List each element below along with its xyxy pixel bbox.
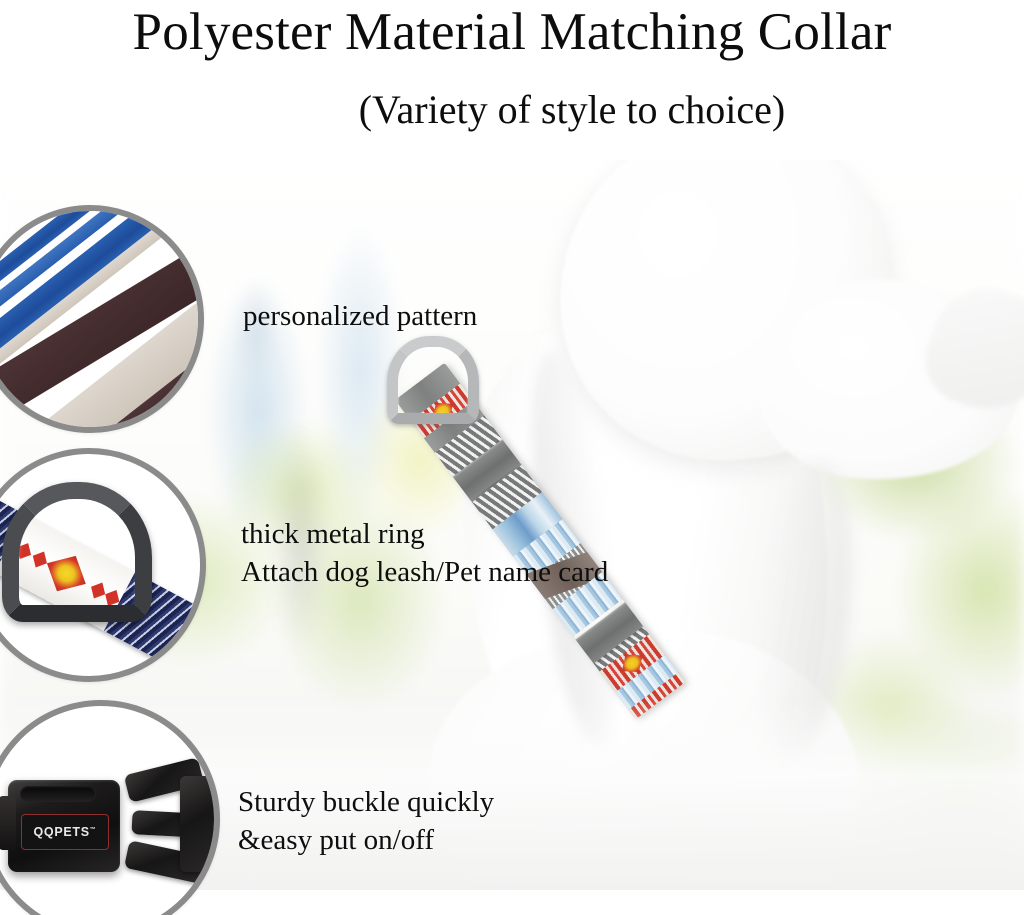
d-ring-icon: [2, 482, 152, 622]
callout-label-dring: thick metal ring Attach dog leash/Pet na…: [241, 515, 608, 591]
brand-logo-plate: QQPETS™: [21, 814, 109, 850]
page-title: Polyester Material Matching Collar: [0, 2, 1024, 62]
callout-label-line: Attach dog leash/Pet name card: [241, 553, 608, 591]
side-release-buckle-icon: QQPETS™: [8, 780, 120, 872]
callout-label-pattern: personalized pattern: [243, 297, 477, 335]
brand-logo-text: QQPETS™: [34, 826, 97, 839]
callout-label-line: Sturdy buckle quickly: [238, 783, 494, 821]
buckle-stem: [180, 776, 214, 872]
collar-d-ring: [387, 336, 479, 424]
page-subtitle: (Variety of style to choice): [0, 86, 1024, 134]
callout-circle-pattern: [0, 205, 204, 433]
buckle-male-half: [126, 766, 218, 886]
callout-label-buckle: Sturdy buckle quickly &easy put on/off: [238, 783, 494, 859]
header: Polyester Material Matching Collar (Vari…: [0, 0, 1024, 160]
fabric-swatch-icon: [0, 205, 204, 433]
callout-label-line: thick metal ring: [241, 515, 608, 553]
callout-label-line: &easy put on/off: [238, 821, 494, 859]
buckle-webbing-slot: [20, 786, 96, 802]
product-infographic: Polyester Material Matching Collar (Vari…: [0, 0, 1024, 915]
callout-label-line: personalized pattern: [243, 297, 477, 335]
